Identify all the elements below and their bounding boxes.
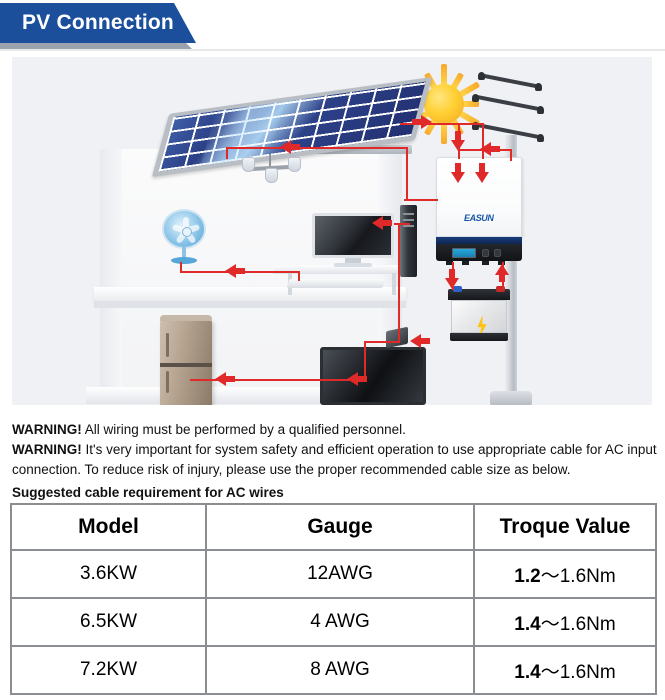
arrow-charge-battery [445, 278, 459, 289]
arrow-pv-into-inverter [451, 140, 465, 151]
inverter-brand-logo: EASUN [464, 213, 494, 223]
arrow-to-wallbox [410, 334, 421, 348]
table-row: 7.2KW 8 AWG 1.4〜1.6Nm [11, 646, 656, 694]
cell-gauge: 4 AWG [206, 598, 474, 646]
wire-lamp-drop [226, 147, 228, 159]
house-left-wall [100, 149, 122, 397]
cell-torque: 1.2〜1.6Nm [474, 550, 656, 598]
utility-pole-base [490, 391, 532, 405]
cell-torque-value: 1.4 [514, 662, 540, 683]
arrow-pv-into-inverter-2 [451, 172, 465, 183]
arrow-tail [226, 376, 235, 382]
inverter-lcd-screen [452, 248, 476, 258]
warning-label: WARNING! [12, 422, 82, 437]
table-row: 6.5KW 4 AWG 1.4〜1.6Nm [11, 598, 656, 646]
arrow-battery-discharge [495, 264, 509, 275]
fan-icon [162, 209, 206, 267]
computer-tower-icon [400, 205, 417, 277]
cell-torque-range: 〜1.6Nm [541, 662, 616, 683]
inverter-control-panel [436, 244, 522, 261]
arrow-tail [455, 131, 461, 140]
arrow-tail [421, 338, 430, 344]
inverter-terminal [462, 261, 469, 265]
inverter-knob [482, 249, 489, 257]
warning-label: WARNING! [12, 442, 82, 457]
arrow-to-tv [347, 372, 358, 386]
battery-icon [448, 289, 510, 345]
arrow-tail [449, 269, 455, 278]
refrigerator-icon [160, 319, 212, 405]
cell-gauge: 8 AWG [206, 646, 474, 694]
cell-model: 7.2KW [11, 646, 206, 694]
cell-torque-range: 〜1.6Nm [541, 566, 616, 587]
wire-wallbox-drop [364, 341, 366, 381]
arrow-tail [358, 376, 367, 382]
wire-wallbox-feed [364, 341, 400, 343]
pv-connection-diagram: EASUN [12, 57, 652, 405]
inverter-accent-band [436, 237, 522, 244]
warning-line-1: WARNING! All wiring must be performed by… [12, 420, 660, 440]
arrow-tail [383, 220, 392, 226]
wire-desk-riser [298, 271, 300, 281]
page-title: PV Connection [22, 11, 174, 35]
inverter-knob [494, 249, 501, 257]
keyboard-icon [287, 279, 386, 288]
cell-torque-value: 1.4 [514, 614, 540, 635]
wire-monitor-feed [394, 223, 410, 225]
arrow-tail [291, 144, 300, 150]
cell-model: 6.5KW [11, 598, 206, 646]
wall-junction-box-icon [386, 327, 408, 349]
arrow-to-upper-floor [280, 140, 291, 154]
arrow-grid-into-inverter [475, 172, 489, 183]
pole-insulator [537, 106, 544, 114]
suggested-cable-heading: Suggested cable requirement for AC wires [12, 483, 660, 503]
house-middle-floor-edge [94, 301, 406, 308]
arrow-to-computer [372, 216, 383, 230]
wire-panel-bridge [458, 123, 484, 125]
table-header-model: Model [11, 504, 206, 550]
arrow-to-refrigerator [215, 372, 226, 386]
wire-grid-drop [510, 149, 512, 161]
warning-line-2: WARNING! It's very important for system … [12, 440, 660, 480]
pole-crossarm [479, 73, 541, 89]
pole-insulator [537, 134, 544, 142]
table-header-torque: Troque Value [474, 504, 656, 550]
television-icon [320, 347, 426, 405]
arrow-tail [236, 268, 245, 274]
warning-line-2-text: It's very important for system safety an… [12, 442, 657, 477]
wire-ceiling-rail [226, 147, 408, 149]
arrow-tail [455, 163, 461, 172]
ceiling-lamp-icon [240, 154, 302, 184]
pole-insulator [472, 94, 479, 102]
arrow-tail [412, 119, 421, 125]
wire-inverter-to-house [404, 199, 438, 201]
table-header-row: Model Gauge Troque Value [11, 504, 656, 550]
cell-model: 3.6KW [11, 550, 206, 598]
cell-torque: 1.4〜1.6Nm [474, 646, 656, 694]
warning-line-1-text: All wiring must be performed by a qualif… [82, 422, 406, 437]
cell-torque-range: 〜1.6Nm [541, 614, 616, 635]
wire-right-riser [406, 147, 408, 201]
arrow-panel-output [421, 115, 432, 129]
warning-notes: WARNING! All wiring must be performed by… [12, 420, 660, 503]
arrow-tail [479, 163, 485, 172]
table-header-gauge: Gauge [206, 504, 474, 550]
cell-gauge: 12AWG [206, 550, 474, 598]
page-header: PV Connection [0, 0, 665, 52]
header-divider [0, 49, 665, 51]
pole-crossarm [473, 94, 542, 111]
wire-down-to-ground-floor [398, 223, 400, 343]
cell-torque-value: 1.2 [514, 566, 540, 587]
pole-insulator [535, 83, 542, 91]
table-row: 3.6KW 12AWG 1.2〜1.6Nm [11, 550, 656, 598]
arrow-grid-inbound [480, 142, 491, 156]
desk-leg [392, 273, 396, 295]
wire-fan-riser [180, 262, 182, 272]
cable-requirement-table: Model Gauge Troque Value 3.6KW 12AWG 1.2… [10, 503, 657, 695]
arrow-to-fan [225, 264, 236, 278]
inverter-terminal [482, 261, 489, 265]
cell-torque: 1.4〜1.6Nm [474, 598, 656, 646]
pole-insulator [478, 72, 485, 80]
arrow-tail [491, 146, 500, 152]
